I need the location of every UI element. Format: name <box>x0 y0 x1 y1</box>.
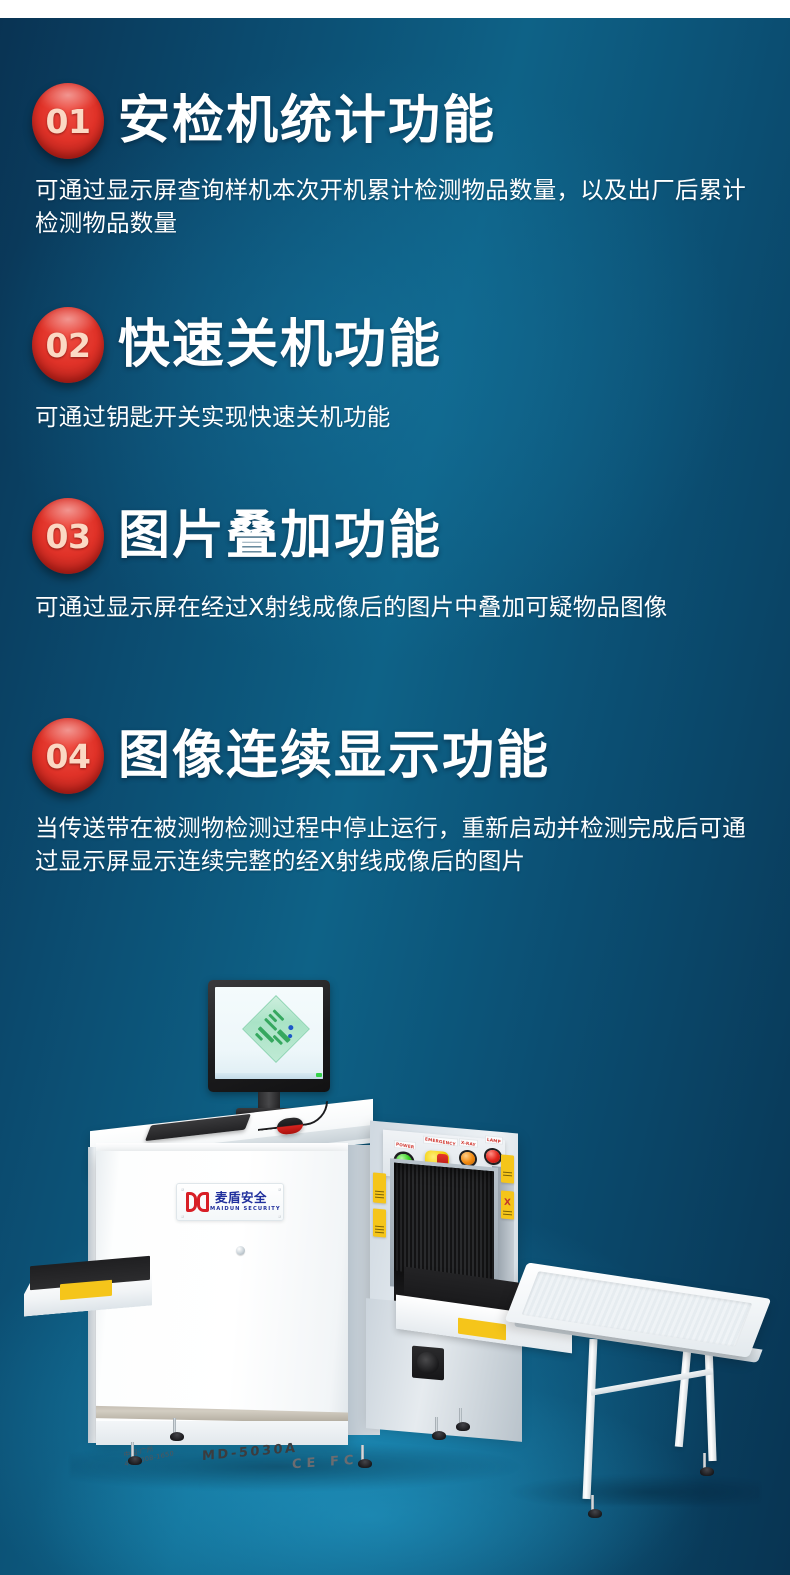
feature-number-badge-03: 03 <box>32 498 104 574</box>
hazard-sticker-right-bottom: X <box>501 1190 514 1219</box>
monitor-power-led <box>316 1073 322 1077</box>
brand-logo-plate: 麦盾安全 MAIDUN SECURITY <box>176 1183 284 1221</box>
product-detail-page: 01 安检机统计功能 可通过显示屏查询样机本次开机累计检测物品数量，以及出厂后累… <box>0 0 790 1575</box>
feature-heading-03: 03 图片叠加功能 <box>0 498 790 574</box>
feature-heading-04: 04 图像连续显示功能 <box>0 718 790 794</box>
product-photo-xray-scanner: 麦盾安全 MAIDUN SECURITY 中国·广州 400-008-1650 … <box>0 955 790 1575</box>
brand-name-cn: 麦盾安全 <box>215 1192 281 1205</box>
feature-number-02: 02 <box>46 329 91 362</box>
feature-body-03: 可通过显示屏在经过X射线成像后的图片中叠加可疑物品图像 <box>35 591 760 624</box>
control-label-lamp: LAMP <box>487 1136 501 1143</box>
maidun-logo-icon <box>186 1192 210 1212</box>
feature-heading-01: 01 安检机统计功能 <box>0 83 790 159</box>
monitor-taskbar <box>215 1073 323 1079</box>
cabinet-door-lock-icon <box>236 1246 245 1255</box>
label-box-lamp: LAMP <box>485 1135 503 1145</box>
feature-body-01: 可通过显示屏查询样机本次开机累计检测物品数量，以及出厂后累计检测物品数量 <box>35 174 760 241</box>
feature-number-03: 03 <box>46 520 91 553</box>
feature-block-04: 04 图像连续显示功能 当传送带在被测物检测过程中停止运行，重新启动并检测完成后… <box>0 718 790 879</box>
hazard-sticker-left-bottom <box>373 1208 386 1237</box>
label-box-xray: X-RAY <box>459 1138 478 1148</box>
feature-body-04: 当传送带在被测物检测过程中停止运行，重新启动并检测完成后可通过显示屏显示连续完整… <box>35 812 760 879</box>
control-label-power: POWER <box>396 1141 415 1149</box>
feature-number-badge-01: 01 <box>32 83 104 159</box>
xray-indicator-button[interactable] <box>461 1151 475 1165</box>
control-label-xray: X-RAY <box>461 1139 476 1147</box>
feature-heading-02: 02 快速关机功能 <box>0 307 790 383</box>
lamp-indicator-button[interactable] <box>486 1149 500 1163</box>
no-entry-x-icon: X <box>504 1199 511 1209</box>
feature-number-badge-02: 02 <box>32 307 104 383</box>
feature-block-02: 02 快速关机功能 可通过钥匙开关实现快速关机功能 <box>0 307 790 434</box>
feature-number-01: 01 <box>46 105 91 138</box>
feature-number-04: 04 <box>46 740 91 773</box>
brand-name-en: MAIDUN SECURITY <box>210 1207 281 1212</box>
table-cross-brace <box>590 1368 713 1395</box>
feature-title-04: 图像连续显示功能 <box>118 729 550 783</box>
feature-number-badge-04: 04 <box>32 718 104 794</box>
feature-body-02: 可通过钥匙开关实现快速关机功能 <box>35 401 760 434</box>
feature-title-03: 图片叠加功能 <box>118 509 442 563</box>
feature-title-01: 安检机统计功能 <box>118 94 496 148</box>
hazard-sticker-right-top <box>501 1154 514 1183</box>
hazard-sticker-left-top <box>373 1172 386 1203</box>
feature-block-03: 03 图片叠加功能 可通过显示屏在经过X射线成像后的图片中叠加可疑物品图像 <box>0 498 790 624</box>
feature-block-01: 01 安检机统计功能 可通过显示屏查询样机本次开机累计检测物品数量，以及出厂后累… <box>0 83 790 241</box>
feature-title-02: 快速关机功能 <box>118 318 442 372</box>
